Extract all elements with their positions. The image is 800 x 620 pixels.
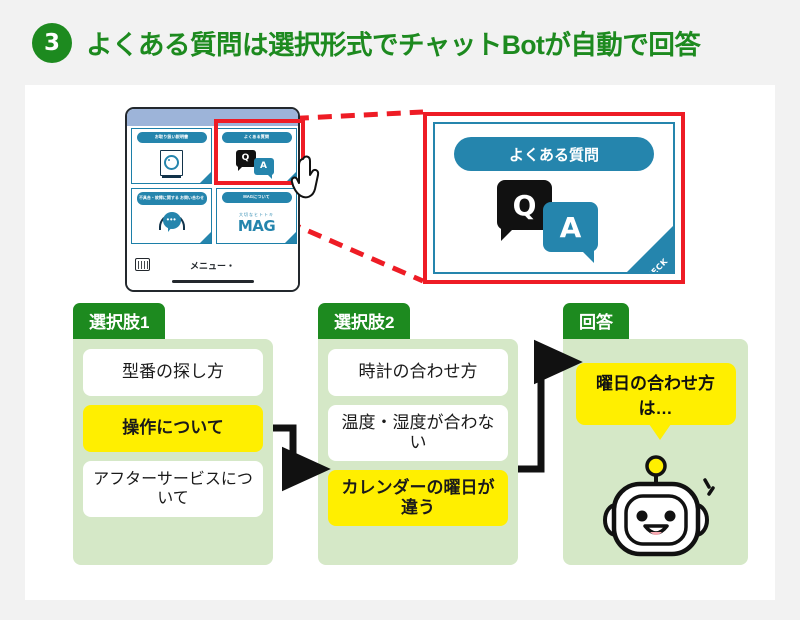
phone-menu-label[interactable]: メニュー・	[127, 259, 298, 272]
mag-wordmark: MAG	[238, 219, 275, 234]
tile-corner-fold	[285, 232, 296, 243]
app-tile-mag[interactable]: MAGについて 大切なヒトトキ MAG	[216, 188, 297, 244]
app-tile-manual-label: お取り扱い説明書	[137, 132, 207, 143]
tile-corner-fold	[200, 172, 211, 183]
flow-column-choice2-header: 選択肢2	[318, 303, 410, 339]
selection-flow-diagram: 選択肢1 型番の探し方 操作について アフターサービスについて 選択肢2 時計の…	[25, 303, 775, 593]
faq-callout-panel: よくある質問 Q A CHECK	[423, 112, 685, 284]
option-item-selected[interactable]: カレンダーの曜日が違う	[328, 470, 508, 526]
chat-bot-robot-icon	[596, 454, 716, 559]
phone-bottom-bar: メニュー・	[127, 250, 298, 290]
option-item[interactable]: 時計の合わせ方	[328, 349, 508, 396]
option-item[interactable]: 温度・湿度が合わない	[328, 405, 508, 461]
option-item-selected[interactable]: 操作について	[83, 405, 263, 452]
option-item[interactable]: アフターサービスについて	[83, 461, 263, 517]
app-tile-mag-label: MAGについて	[222, 192, 292, 203]
faq-callout-inner: よくある質問 Q A CHECK	[433, 122, 675, 274]
flow-column-choice1: 選択肢1 型番の探し方 操作について アフターサービスについて	[73, 303, 273, 565]
page-header: 3 よくある質問は選択形式でチャットBotが自動で回答	[0, 0, 800, 85]
page-title: よくある質問は選択形式でチャットBotが自動で回答	[86, 23, 700, 62]
flow-column-choice1-body: 型番の探し方 操作について アフターサービスについて	[73, 339, 273, 565]
faq-callout-title: よくある質問	[454, 137, 654, 171]
flow-column-answer-body: 曜日の合わせ方は…	[563, 339, 748, 565]
app-tile-manual[interactable]: お取り扱い説明書	[131, 128, 212, 184]
pointing-hand-icon	[289, 153, 325, 201]
flow-column-answer: 回答 曜日の合わせ方は…	[563, 303, 748, 565]
option-item[interactable]: 型番の探し方	[83, 349, 263, 396]
answer-speech-bubble: 曜日の合わせ方は…	[576, 363, 736, 425]
tile-row: 不具合・故障に関する お問い合わせ ••• MAGについて 大切なヒトトキ	[131, 188, 298, 244]
tile-corner-fold	[200, 232, 211, 243]
qa-bubbles-large-icon: Q A	[489, 180, 619, 252]
flow-column-choice1-header: 選択肢1	[73, 303, 165, 339]
content-card: お取り扱い説明書 よくある質問 Q A	[25, 85, 775, 600]
home-indicator	[172, 280, 254, 283]
flow-column-answer-header: 回答	[563, 303, 629, 339]
app-tile-support[interactable]: 不具合・故障に関する お問い合わせ •••	[131, 188, 212, 244]
answer-bubble-large: A	[543, 202, 598, 252]
flow-column-choice2-body: 時計の合わせ方 温度・湿度が合わない カレンダーの曜日が違う	[318, 339, 518, 565]
flow-column-choice2: 選択肢2 時計の合わせ方 温度・湿度が合わない カレンダーの曜日が違う	[318, 303, 518, 565]
step-number-badge: 3	[32, 23, 72, 63]
